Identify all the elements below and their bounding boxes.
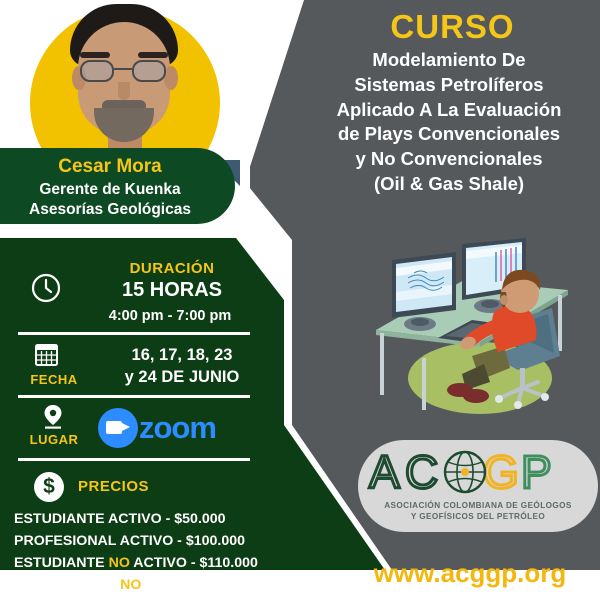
title-line: de Plays Convencionales [300, 122, 598, 147]
zoom-wordmark: zoom [139, 410, 216, 446]
portrait-brow-right [138, 52, 168, 58]
price-text: PROFESIONAL ACTIVO - $100.000 [14, 533, 245, 549]
glasses-bridge [114, 68, 132, 70]
price-text: ESTUDIANTE ACTIVO - $50.000 [14, 511, 226, 527]
divider [18, 458, 250, 461]
clock-icon [30, 272, 62, 309]
camera-glyph [106, 421, 122, 434]
speaker-name: Cesar Mora [0, 156, 220, 178]
prices-list: ESTUDIANTE ACTIVO - $50.000 PROFESIONAL … [14, 508, 304, 596]
page-kicker: CURSO [310, 8, 595, 46]
glasses-lens-right [132, 60, 166, 82]
title-line: Aplicado A La Evaluación [300, 98, 598, 123]
page-title: Modelamiento De Sistemas Petrolíferos Ap… [300, 48, 598, 197]
duration-hours: 15 HORAS [72, 279, 272, 302]
duration-time-range: 4:00 pm - 7:00 pm [60, 308, 280, 324]
svg-text:C: C [405, 446, 438, 498]
svg-text:G: G [483, 446, 519, 498]
divider [18, 332, 250, 335]
price-row: PROFESIONAL ACTIVO - $100.000 [14, 530, 304, 552]
price-emphasis: NO [120, 577, 141, 593]
price-row: PROFESIONAL NO ACTIVO - $250.000 [14, 574, 304, 596]
date-value-line1: 16, 17, 18, 23 [92, 344, 272, 366]
glasses-lens-left [80, 60, 114, 82]
course-flyer: Cesar Mora Gerente de Kuenka Asesorías G… [0, 0, 600, 600]
logo-sub-line1: ASOCIACIÓN COLOMBIANA DE GEÓLOGOS [358, 500, 598, 511]
map-pin-icon [42, 404, 64, 435]
price-text: PROFESIONAL [14, 577, 120, 593]
zoom-camera-icon [98, 408, 138, 448]
isometric-workstation-illustration [368, 238, 583, 423]
title-line: (Oil & Gas Shale) [300, 172, 598, 197]
website-url[interactable]: www.acggp.org [340, 558, 600, 589]
divider [18, 395, 250, 398]
price-emphasis: NO [109, 555, 130, 571]
date-label: FECHA [12, 372, 96, 387]
portrait-nose [118, 82, 130, 100]
price-text: ESTUDIANTE [14, 555, 109, 571]
speaker-role: Gerente de Kuenka Asesorías Geológicas [0, 180, 220, 220]
title-line: y No Convencionales [300, 147, 598, 172]
speaker-role-line1: Gerente de Kuenka [0, 180, 220, 200]
date-value: 16, 17, 18, 23 y 24 DE JUNIO [92, 344, 272, 389]
calendar-icon [34, 342, 60, 373]
svg-text:A: A [369, 446, 400, 498]
acggp-logo: A C G P [358, 446, 598, 503]
date-value-line2: y 24 DE JUNIO [92, 366, 272, 388]
logo-sub-line2: Y GEOFÍSICOS DEL PETRÓLEO [358, 511, 598, 522]
price-text: ACTIVO - $250.000 [141, 577, 270, 593]
dollar-icon: $ [34, 472, 64, 502]
prices-label: PRECIOS [78, 478, 149, 495]
acggp-logo-subtitle: ASOCIACIÓN COLOMBIANA DE GEÓLOGOS Y GEOF… [358, 500, 598, 522]
title-line: Sistemas Petrolíferos [300, 73, 598, 98]
price-row: ESTUDIANTE ACTIVO - $50.000 [14, 508, 304, 530]
price-text: ACTIVO - $110.000 [130, 555, 258, 571]
title-line: Modelamiento De [300, 48, 598, 73]
duration-label: DURACIÓN [72, 260, 272, 277]
zoom-logo: zoom [98, 408, 216, 448]
price-row: ESTUDIANTE NO ACTIVO - $110.000 [14, 552, 304, 574]
svg-text:P: P [521, 446, 552, 498]
portrait-brow-left [80, 52, 110, 58]
speaker-role-line2: Asesorías Geológicas [0, 200, 220, 220]
portrait-glasses [78, 60, 170, 82]
portrait-beard [94, 108, 154, 142]
place-label: LUGAR [12, 432, 96, 447]
